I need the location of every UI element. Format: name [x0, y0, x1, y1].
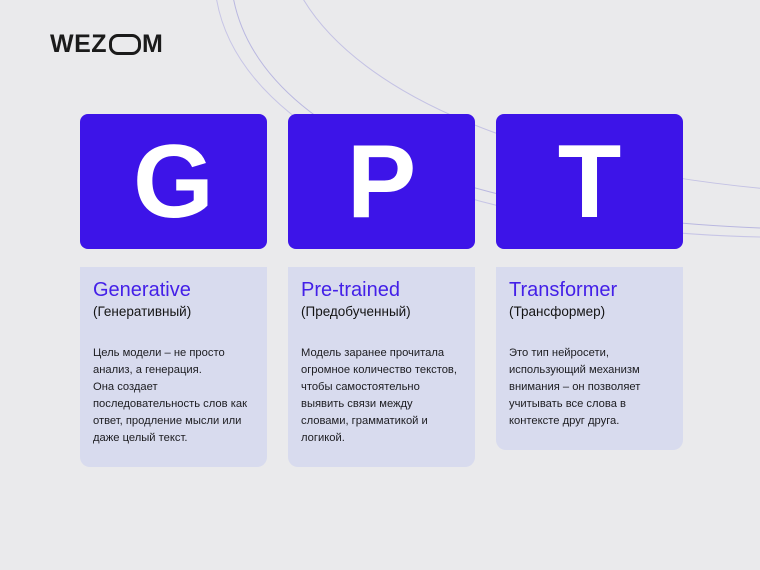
gpt-card-transformer: T Transformer (Трансформер) Это тип нейр…	[496, 114, 683, 467]
letter-glyph: P	[347, 130, 416, 234]
letter-glyph: G	[133, 130, 214, 234]
letter-block-t: T	[496, 114, 683, 249]
card-subtitle: (Трансформер)	[509, 304, 670, 321]
card-body: Transformer (Трансформер) Это тип нейрос…	[496, 267, 683, 450]
gpt-card-list: G Generative (Генеративный) Цель модели …	[80, 114, 683, 467]
logo-wordmark: WEZ M	[50, 32, 163, 57]
logo-text-right: M	[142, 32, 163, 57]
letter-block-p: P	[288, 114, 475, 249]
card-title: Transformer	[509, 279, 670, 302]
card-description: Цель модели – не просто анализ, а генера…	[93, 345, 254, 447]
gpt-card-pre-trained: P Pre-trained (Предобученный) Модель зар…	[288, 114, 475, 467]
card-body: Pre-trained (Предобученный) Модель заран…	[288, 267, 475, 467]
wezom-logo: WEZ M	[50, 30, 163, 58]
card-description: Это тип нейросети, использующий механизм…	[509, 345, 670, 430]
card-title: Generative	[93, 279, 254, 302]
logo-text-left: WEZ	[50, 32, 107, 57]
stadium-o-icon	[109, 34, 141, 55]
card-subtitle: (Предобученный)	[301, 304, 462, 321]
letter-block-g: G	[80, 114, 267, 249]
card-title: Pre-trained	[301, 279, 462, 302]
card-subtitle: (Генеративный)	[93, 304, 254, 321]
letter-glyph: T	[558, 130, 622, 234]
card-description: Модель заранее прочитала огромное количе…	[301, 345, 462, 447]
gpt-card-generative: G Generative (Генеративный) Цель модели …	[80, 114, 267, 467]
card-body: Generative (Генеративный) Цель модели – …	[80, 267, 267, 467]
